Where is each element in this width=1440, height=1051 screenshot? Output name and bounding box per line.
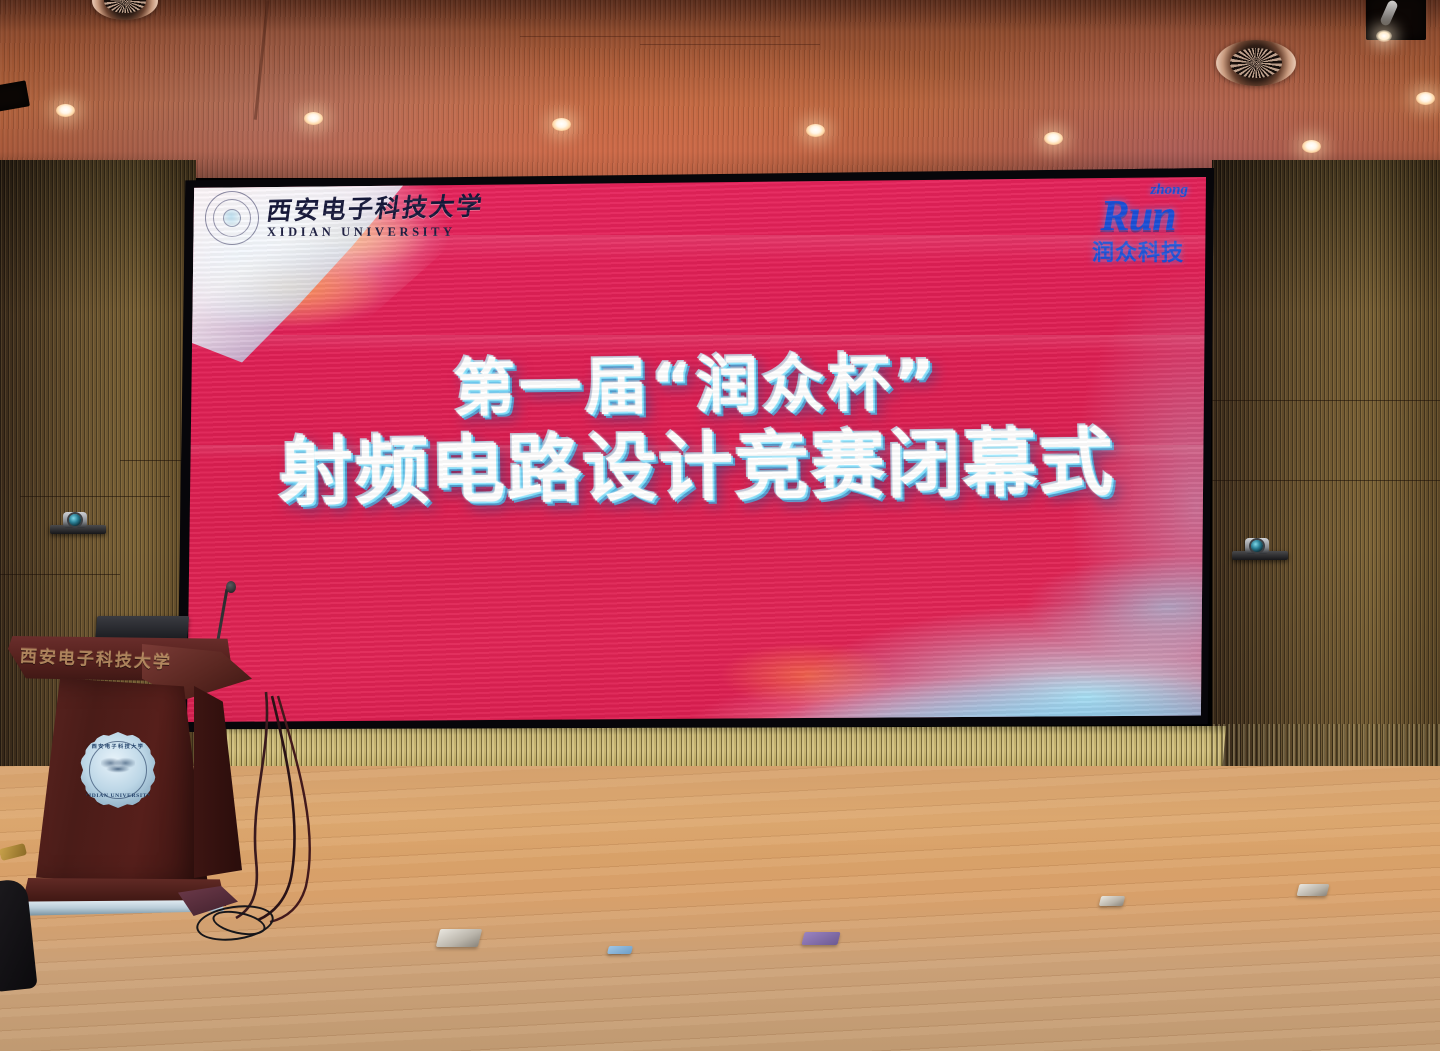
downlight: [552, 118, 571, 131]
sponsor-superscript: zhong: [1150, 183, 1188, 197]
ptz-camera: [50, 512, 106, 534]
university-logo-text: 西安电子科技大学 XIDIAN UNIVERSITY: [267, 197, 483, 239]
university-logo: 西安电子科技大学 XIDIAN UNIVERSITY: [205, 191, 483, 245]
university-name-cn: 西安电子科技大学: [265, 195, 485, 225]
cable-strand: [258, 696, 295, 920]
cable-strand: [270, 696, 310, 922]
ceiling-slat-texture: [0, 0, 1440, 178]
microphone-icon: [226, 581, 236, 593]
spotlight-glow: [1376, 30, 1392, 42]
wall-panel-seam: [20, 496, 170, 497]
downlight: [304, 112, 323, 125]
ceiling: [0, 0, 1440, 178]
wall-panel-seam: [0, 574, 120, 575]
floor-outlet-plate: [1297, 884, 1330, 896]
downlight: [1416, 92, 1435, 105]
xidian-seal-icon: [205, 191, 259, 245]
microphone-cables: [0, 600, 400, 960]
floor-outlet-plate: [436, 929, 482, 947]
ceiling-recess: [1366, 0, 1426, 40]
downlight: [806, 124, 825, 137]
wall-panel-seam: [1212, 400, 1440, 401]
sponsor-wordmark: Run zhong: [1092, 195, 1184, 237]
floor-outlet-plate: [1099, 896, 1125, 906]
floor-outlet-plate: [801, 932, 840, 945]
sponsor-logo: Run zhong 润众科技: [1092, 195, 1184, 267]
wall-panel-seam: [1212, 480, 1440, 481]
university-name-en: XIDIAN UNIVERSITY: [267, 226, 483, 239]
spotlight-fixture: [1379, 0, 1399, 27]
ceiling-vent-grille: [1216, 40, 1296, 86]
camera-lens-icon: [69, 514, 81, 526]
ptz-camera: [1232, 538, 1288, 560]
camera-lens-icon: [1251, 540, 1263, 552]
event-title-line1: 第一届“润众杯”: [187, 347, 1206, 425]
downlight: [56, 104, 75, 117]
ceiling-seam: [640, 44, 820, 45]
sponsor-mark-text: Run: [1100, 191, 1175, 240]
downlight: [1302, 140, 1321, 153]
cable-strand: [236, 692, 267, 918]
ceiling-seam: [520, 36, 780, 37]
event-title-line2: 射频电路设计竞赛闭幕式: [187, 422, 1206, 513]
auditorium-scene: 西安电子科技大学 XIDIAN UNIVERSITY Run zhong 润众科…: [0, 0, 1440, 1051]
floor-outlet-plate: [607, 946, 633, 954]
event-title: 第一届“润众杯” 射频电路设计竞赛闭幕式: [187, 347, 1206, 514]
downlight: [1044, 132, 1063, 145]
